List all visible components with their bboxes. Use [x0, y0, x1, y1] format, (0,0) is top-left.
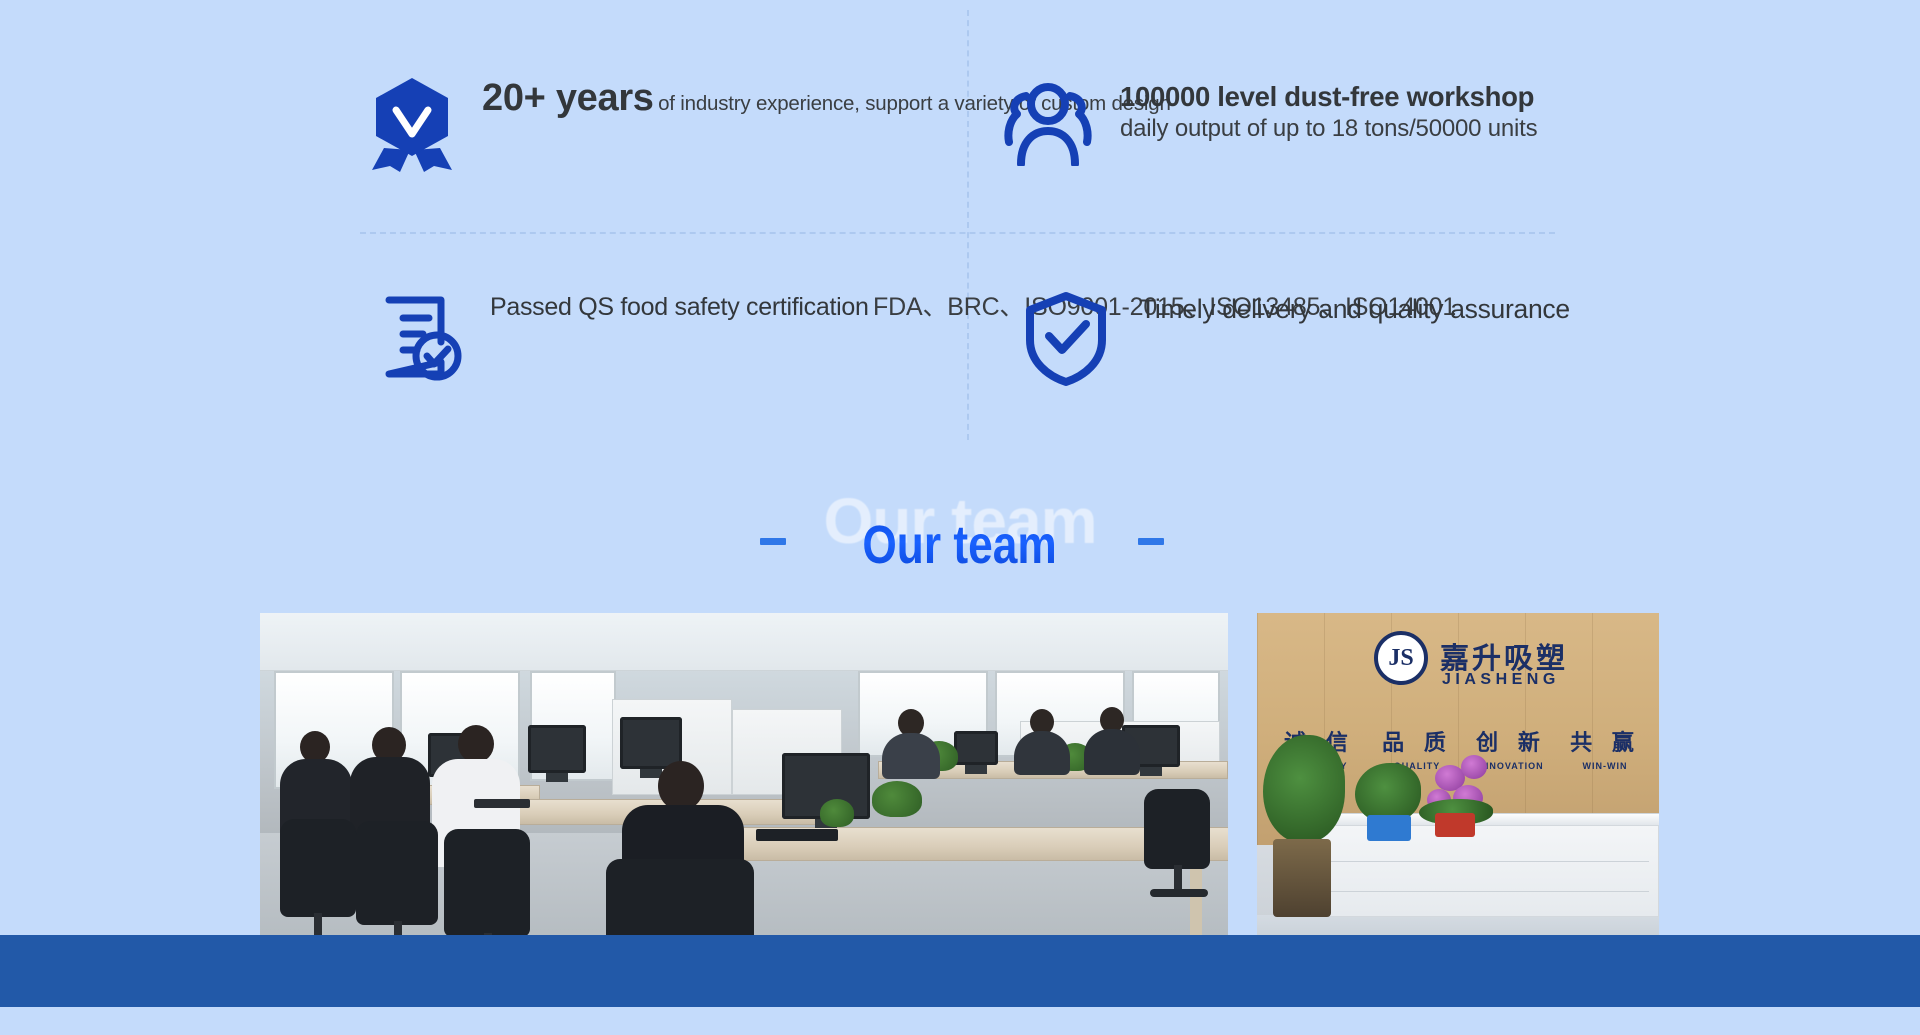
lobby-value-en: WIN-WIN: [1557, 761, 1653, 771]
lobby-photo: JS 嘉升吸塑 JIASHENG 诚 信 INTEGRITY 品 质 QUALI…: [1257, 613, 1659, 953]
office-keyboard: [756, 829, 838, 841]
office-monitor: [954, 731, 998, 765]
office-person-head: [658, 761, 704, 811]
bottom-blue-band: [0, 935, 1920, 1007]
office-keyboard: [474, 799, 530, 808]
office-person-body: [882, 733, 940, 779]
office-plant: [820, 799, 854, 827]
lobby-counter-seam: [1327, 891, 1649, 892]
lobby-orchid-bloom: [1461, 755, 1487, 779]
lobby-logo-icon: JS: [1374, 631, 1428, 685]
lobby-value-winwin: 共 赢 WIN-WIN: [1557, 725, 1653, 771]
office-chair: [444, 829, 530, 937]
lobby-brand-en: JIASHENG: [1442, 671, 1560, 689]
office-chair-base: [1150, 889, 1208, 897]
office-photo: [260, 613, 1228, 953]
lobby-orchid-pot: [1435, 813, 1475, 837]
office-person-body: [1084, 729, 1140, 775]
office-person-head: [458, 725, 494, 763]
office-person-body: [1014, 731, 1070, 775]
team-photos-section: JS 嘉升吸塑 JIASHENG 诚 信 INTEGRITY 品 质 QUALI…: [0, 0, 1920, 1035]
office-monitor: [620, 717, 682, 769]
bottom-light-strip: [0, 1007, 1920, 1035]
lobby-value-cn: 创 新: [1463, 725, 1559, 757]
office-ceiling: [260, 613, 1228, 671]
lobby-plant-pot-blue: [1367, 815, 1411, 841]
lobby-value-cn: 品 质: [1369, 725, 1465, 757]
office-chair: [356, 821, 438, 925]
office-desk-leg: [1190, 861, 1202, 935]
lobby-counter-seam: [1327, 861, 1649, 862]
office-chair: [280, 819, 356, 917]
office-plant: [872, 781, 922, 817]
lobby-value-cn: 共 赢: [1557, 725, 1653, 757]
office-chair: [1144, 789, 1210, 869]
lobby-plant-pot: [1273, 839, 1331, 917]
lobby-plant-small: [1355, 763, 1421, 823]
office-monitor: [528, 725, 586, 773]
lobby-plant-large: [1263, 735, 1345, 843]
